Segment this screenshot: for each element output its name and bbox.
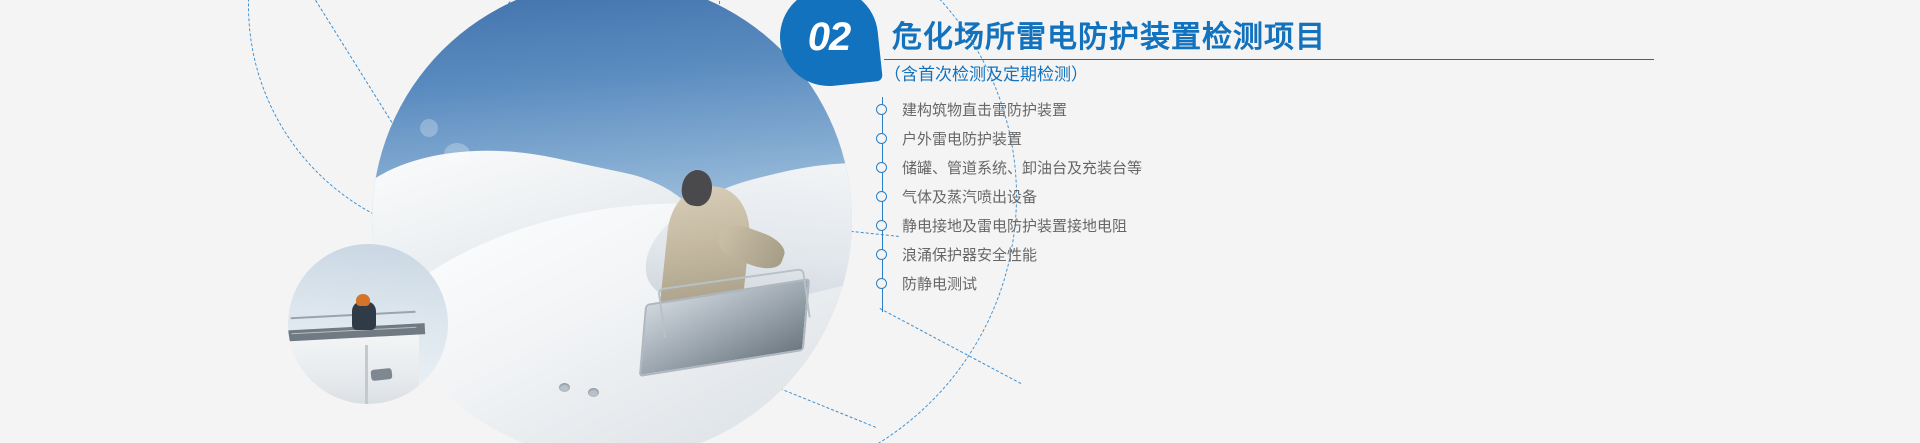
list-item[interactable]: 静电接地及雷电防护装置接地电阻: [876, 211, 1576, 240]
list-item-label: 防静电测试: [902, 273, 977, 294]
list-item-label: 储罐、管道系统、卸油台及充装台等: [902, 157, 1142, 178]
bullet-circle-icon: [876, 162, 887, 173]
checklist: 建构筑物直击雷防护装置 户外雷电防护装置 储罐、管道系统、卸油台及充装台等 气体…: [876, 95, 1576, 298]
list-item[interactable]: 户外雷电防护装置: [876, 124, 1576, 153]
photo2-wall-lamp: [371, 368, 393, 381]
banner-section: 02 危化场所雷电防护装置检测项目 （含首次检测及定期检测） 建构筑物直击雷防护…: [0, 0, 1920, 443]
bullet-circle-icon: [876, 220, 887, 231]
bullet-circle-icon: [876, 133, 887, 144]
page-subtitle: （含首次检测及定期检测）: [884, 60, 1088, 85]
photo2-wall-edge: [365, 345, 368, 404]
photo2-building: [288, 334, 419, 404]
bullet-circle-icon: [876, 249, 887, 260]
section-number-badge: 02: [780, 0, 878, 86]
list-item[interactable]: 储罐、管道系统、卸油台及充装台等: [876, 153, 1576, 182]
list-item-label: 浪涌保护器安全性能: [902, 244, 1037, 265]
bullet-circle-icon: [876, 278, 887, 289]
section-number: 02: [780, 0, 878, 86]
list-item[interactable]: 防静电测试: [876, 269, 1576, 298]
list-item-label: 户外雷电防护装置: [902, 128, 1022, 149]
content-column: 02 危化场所雷电防护装置检测项目 （含首次检测及定期检测） 建构筑物直击雷防护…: [780, 0, 1920, 443]
list-item-label: 建构筑物直击雷防护装置: [902, 99, 1067, 120]
list-item[interactable]: 气体及蒸汽喷出设备: [876, 182, 1576, 211]
list-item-label: 静电接地及雷电防护装置接地电阻: [902, 215, 1127, 236]
bullet-circle-icon: [876, 191, 887, 202]
secondary-photo: [288, 244, 448, 404]
bullet-circle-icon: [876, 104, 887, 115]
list-item[interactable]: 浪涌保护器安全性能: [876, 240, 1576, 269]
list-item[interactable]: 建构筑物直击雷防护装置: [876, 95, 1576, 124]
list-item-label: 气体及蒸汽喷出设备: [902, 186, 1037, 207]
page-title: 危化场所雷电防护装置检测项目: [892, 12, 1326, 56]
photo2-worker-helmet: [356, 294, 370, 307]
photo-bolt-2: [588, 388, 599, 397]
